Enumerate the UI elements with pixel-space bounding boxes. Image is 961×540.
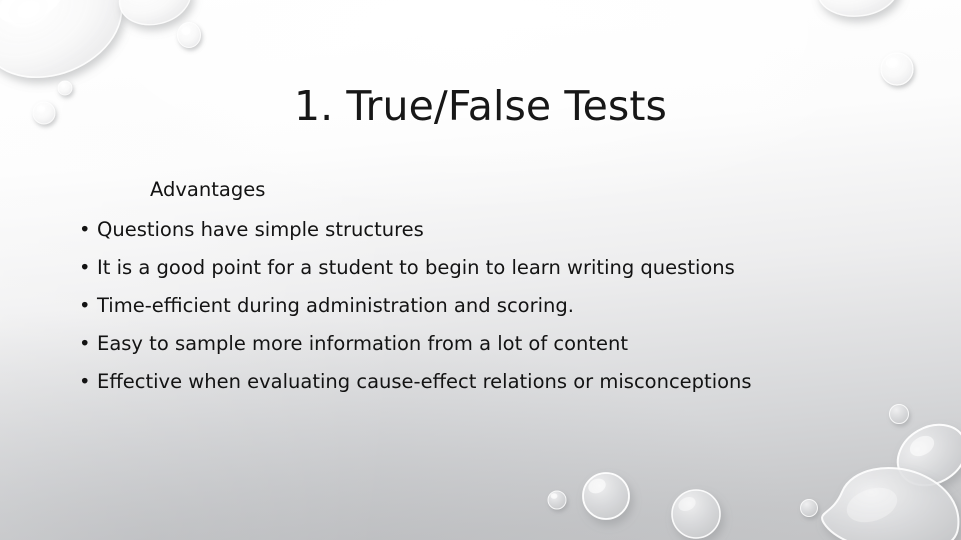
presentation-slide: 1. True/False Tests Advantages • Questio… [0,0,961,540]
bullet-marker-icon: • [79,332,91,355]
water-droplet-small-top-right [881,53,913,85]
water-droplet-medium-top [114,0,196,32]
list-item: • It is a good point for a student to be… [0,256,961,279]
body-subheading: Advantages [150,178,961,201]
list-item-text: Questions have simple structures [97,218,424,241]
list-item: • Effective when evaluating cause-effect… [0,370,961,393]
water-droplet-partial-top-right [816,0,901,20]
bullet-list: • Questions have simple structures • It … [0,218,961,393]
water-droplet-medium-bottom-center [583,473,629,519]
water-droplet-small-bottom-center [548,491,566,509]
list-item-text: Effective when evaluating cause-effect r… [97,370,752,393]
water-droplet-tiny-bottom-right [801,500,818,517]
water-droplet-small-top [178,23,201,48]
water-droplet-medium-bottom-right [672,490,720,538]
list-item-text: It is a good point for a student to begi… [97,256,735,279]
slide-title: 1. True/False Tests [0,83,961,130]
slide-body: Advantages • Questions have simple struc… [0,178,961,408]
bullet-marker-icon: • [79,218,91,241]
bullet-marker-icon: • [79,256,91,279]
list-item: • Questions have simple structures [0,218,961,241]
water-droplet-ellipse-right [887,413,961,497]
water-droplet-blob-bottom-right [822,468,958,540]
list-item: • Time-efficient during administration a… [0,294,961,317]
bullet-marker-icon: • [79,370,91,393]
list-item: • Easy to sample more information from a… [0,332,961,355]
bullet-marker-icon: • [79,294,91,317]
list-item-text: Easy to sample more information from a l… [97,332,628,355]
list-item-text: Time-efficient during administration and… [97,294,574,317]
